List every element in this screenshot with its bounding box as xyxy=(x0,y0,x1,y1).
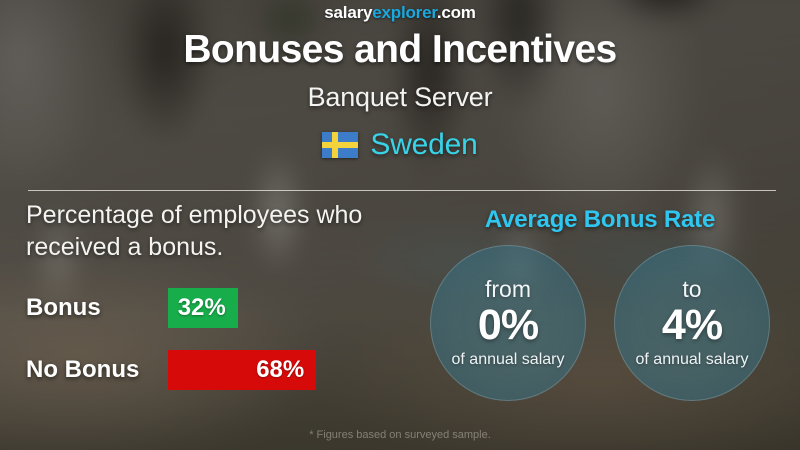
page-title: Bonuses and Incentives xyxy=(0,28,800,72)
bonus-bar-chart: Bonus 32% No Bonus 68% xyxy=(26,288,386,412)
bar-track-no-bonus: 68% xyxy=(168,350,386,390)
circle-unit-to: of annual salary xyxy=(636,352,749,368)
bar-fill-bonus: 32% xyxy=(168,288,238,328)
logo-text-last: .com xyxy=(437,3,476,22)
bonus-rate-circle-from: from 0% of annual salary xyxy=(430,245,586,401)
footnote: * Figures based on surveyed sample. xyxy=(0,429,800,441)
average-bonus-rate-title: Average Bonus Rate xyxy=(420,206,780,234)
circle-percent-from: 0% xyxy=(478,303,538,348)
logo-text-first: salary xyxy=(324,3,372,22)
circle-prefix-to: to xyxy=(682,278,701,301)
bonus-rate-circle-to: to 4% of annual salary xyxy=(614,245,770,401)
sweden-flag-icon xyxy=(322,132,358,158)
site-logo[interactable]: salaryexplorer.com xyxy=(0,3,800,23)
bar-label-no-bonus: No Bonus xyxy=(26,356,139,384)
bonus-caption: Percentage of employees who received a b… xyxy=(26,200,426,263)
bar-fill-no-bonus: 68% xyxy=(168,350,316,390)
bar-track-bonus: 32% xyxy=(168,288,386,328)
logo-text-mid: explorer xyxy=(372,3,437,22)
bar-value-no-bonus: 68% xyxy=(256,356,304,384)
bar-value-bonus: 32% xyxy=(178,294,226,322)
circle-percent-to: 4% xyxy=(662,303,722,348)
bar-row-bonus: Bonus 32% xyxy=(26,288,386,328)
bar-row-no-bonus: No Bonus 68% xyxy=(26,350,386,390)
infographic-card: salaryexplorer.com Bonuses and Incentive… xyxy=(0,0,800,450)
bonus-rate-circles: from 0% of annual salary to 4% of annual… xyxy=(420,245,780,401)
header-divider xyxy=(28,190,776,191)
country-name: Sweden xyxy=(370,128,477,162)
job-title-subtitle: Banquet Server xyxy=(0,82,800,113)
circle-unit-from: of annual salary xyxy=(452,352,565,368)
circle-prefix-from: from xyxy=(485,278,531,301)
country-row: Sweden xyxy=(0,128,800,162)
bar-label-bonus: Bonus xyxy=(26,294,101,322)
